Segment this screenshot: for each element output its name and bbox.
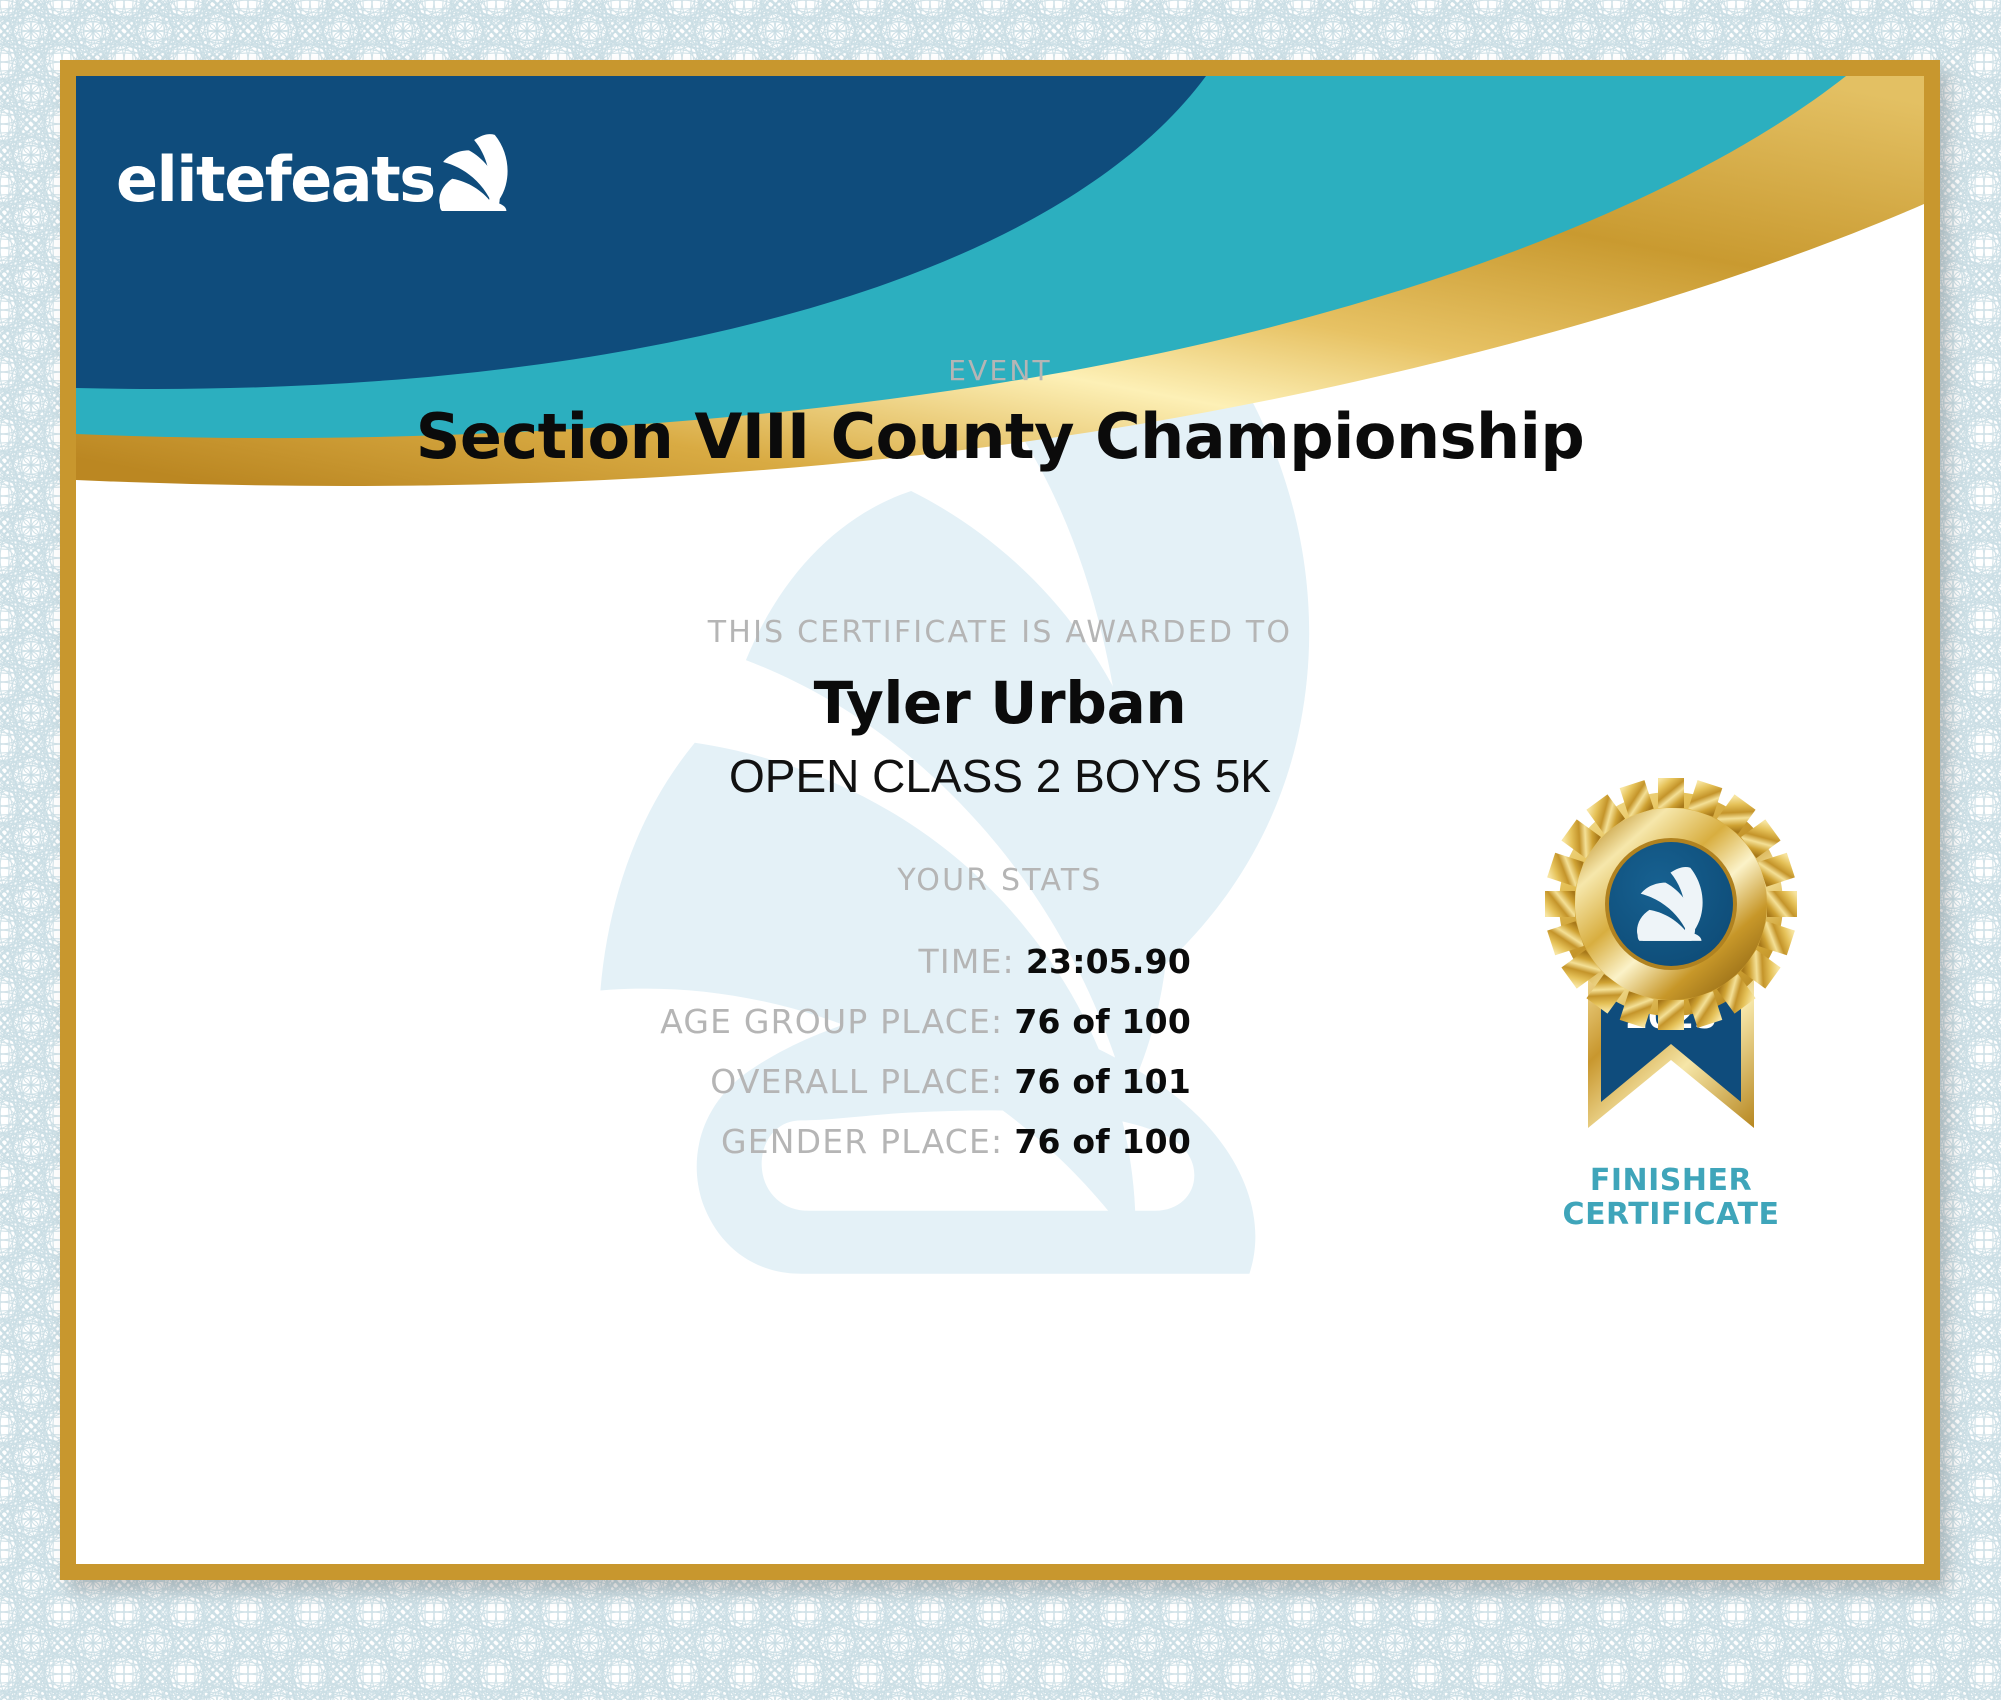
stat-value: 76 of 101 xyxy=(1014,1062,1191,1101)
seal-caption-line1: FINISHER xyxy=(1526,1164,1816,1198)
stat-value: 23:05.90 xyxy=(1026,942,1191,981)
stat-key: GENDER PLACE: xyxy=(721,1122,1003,1161)
certificate-page: elitefeats EVENT Section VIII County Cha… xyxy=(0,0,2001,1700)
certificate-body: elitefeats EVENT Section VIII County Cha… xyxy=(76,76,1924,1564)
stat-value: 76 of 100 xyxy=(1014,1122,1191,1161)
recipient-name: Tyler Urban xyxy=(76,669,1924,737)
certificate-content: EVENT Section VIII County Championship T… xyxy=(76,76,1924,1564)
finisher-seal: 2025 xyxy=(1526,776,1816,1231)
stat-key: TIME: xyxy=(919,942,1015,981)
seal-caption-line2: CERTIFICATE xyxy=(1526,1198,1816,1232)
stat-key: AGE GROUP PLACE: xyxy=(660,1002,1003,1041)
gold-border-frame: elitefeats EVENT Section VIII County Cha… xyxy=(60,60,1940,1580)
stat-key: OVERALL PLACE: xyxy=(710,1062,1003,1101)
stat-value: 76 of 100 xyxy=(1014,1002,1191,1041)
awarded-to-label: THIS CERTIFICATE IS AWARDED TO xyxy=(76,615,1924,650)
seal-caption: FINISHER CERTIFICATE xyxy=(1526,1164,1816,1231)
event-label: EVENT xyxy=(76,354,1924,387)
finisher-medal-icon: 2025 xyxy=(1526,776,1816,1156)
event-title: Section VIII County Championship xyxy=(76,401,1924,472)
